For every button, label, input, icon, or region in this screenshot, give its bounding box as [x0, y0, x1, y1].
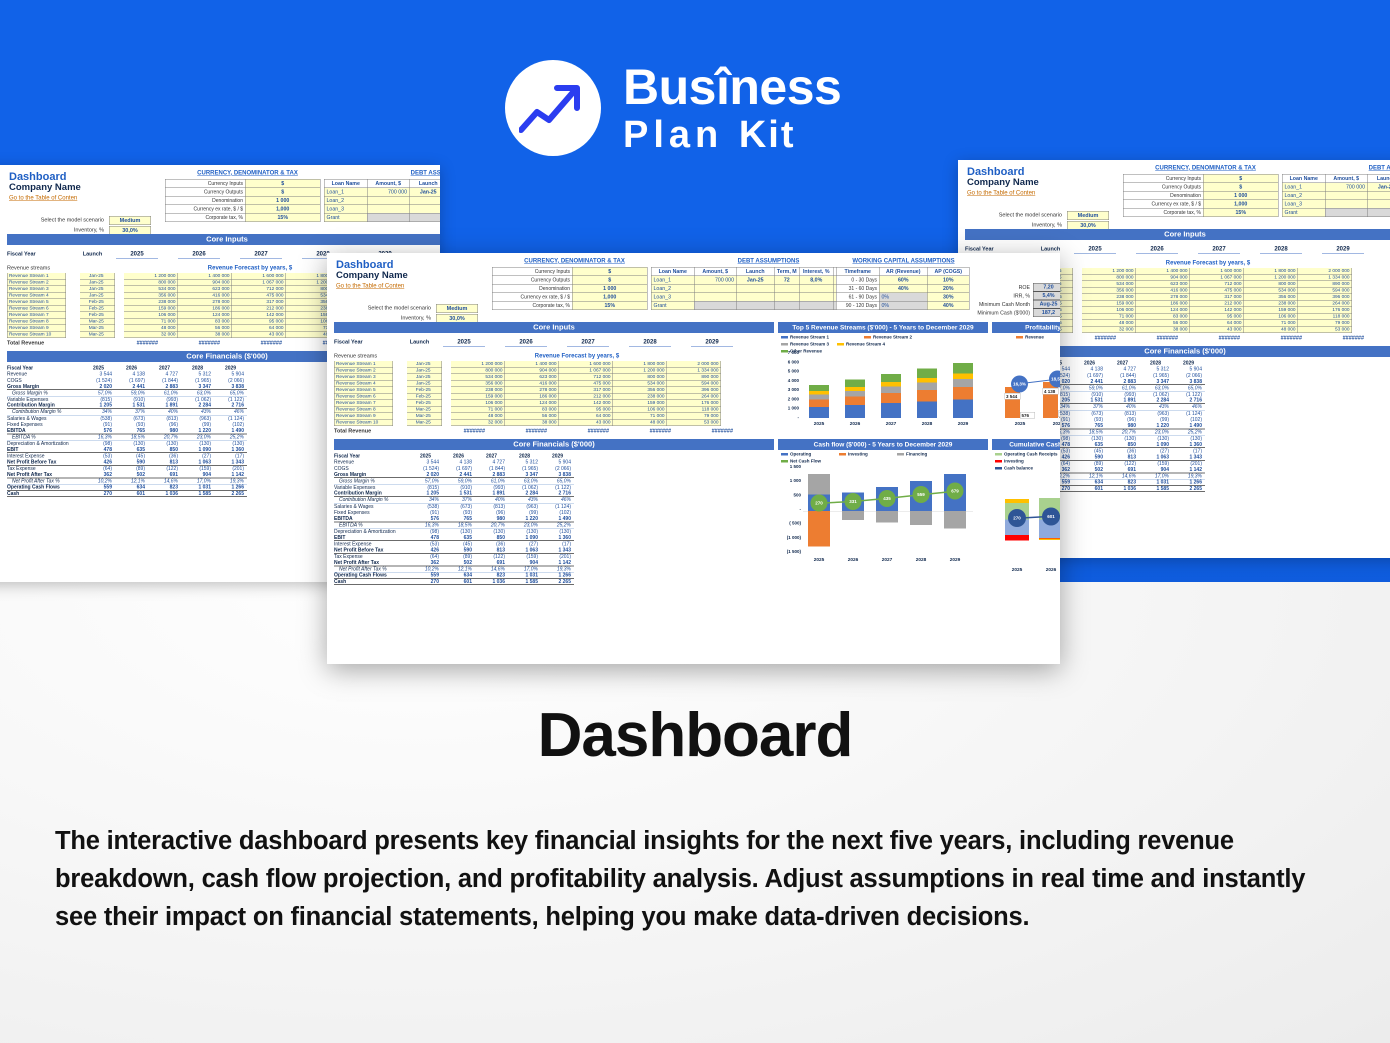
currency-row-value[interactable]: $: [572, 267, 647, 276]
revenue-forecast-caption: Revenue Forecast by years, $: [1073, 259, 1343, 267]
wc-header-cell: Timeframe: [836, 267, 879, 276]
table-row: Currency ex rate, $ / $1,000: [1123, 200, 1278, 209]
financial-row-value: 502: [115, 472, 148, 478]
total-revenue-cell: #######: [1198, 335, 1240, 342]
table-row: Loan_1700 000Jan-25728,0%Annuity: [324, 188, 440, 197]
table-row: Currency Outputs$: [1123, 183, 1278, 192]
bar-segment: [881, 403, 901, 418]
financial-row-value: 1 490: [541, 516, 574, 522]
financial-row-value: (673): [115, 416, 148, 422]
total-revenue-cell: #######: [1074, 335, 1116, 342]
debt-cell[interactable]: [1367, 191, 1390, 200]
financial-row-value: 1 490: [1172, 423, 1205, 429]
year-underline: [116, 258, 158, 259]
cash-flow-title: Cash flow ($'000) - 5 Years to December …: [778, 439, 988, 450]
financial-row-value: 502: [442, 560, 475, 566]
table-row: Revenue3 5444 1384 7275 3125 904: [7, 371, 247, 377]
total-revenue-cell: #######: [1136, 335, 1178, 342]
table-row: EBIT4786358501 0901 360: [334, 535, 574, 541]
financial-row-value: 59,0%: [115, 390, 148, 396]
scenario-select[interactable]: Medium: [436, 304, 478, 313]
revenue-stream-name[interactable]: Revenue Stream 10: [334, 420, 393, 427]
currency-caption: CURRENCY, DENOMINATOR & TAX: [165, 169, 330, 177]
debt-cell[interactable]: [774, 284, 799, 293]
kpi-row: Minimum Cash MonthAug-25: [977, 300, 1060, 309]
debt-cell[interactable]: Loan_2: [324, 196, 367, 205]
financial-row-value: 813: [148, 459, 181, 465]
debt-cell[interactable]: Jan-25: [1367, 183, 1390, 192]
table-row: Currency Inputs$: [492, 267, 647, 276]
debt-cell[interactable]: [799, 293, 833, 302]
currency-row-value[interactable]: $: [1203, 183, 1278, 192]
debt-cell[interactable]: Jan-25: [736, 276, 774, 285]
currency-row-label: Currency ex rate, $ / $: [165, 205, 245, 214]
financial-row-value: 1 220: [1139, 423, 1172, 429]
financial-row-value: 635: [442, 535, 475, 541]
year-header: 2026: [1136, 245, 1178, 253]
financial-row-value: 478: [409, 535, 442, 541]
financial-row-value: 5 904: [1172, 367, 1205, 373]
screenshot-main-dashboard[interactable]: DashboardCompany NameGo to the Table of …: [327, 253, 1060, 664]
financial-row-value: 904: [181, 472, 214, 478]
revenue-stream-launch[interactable]: Mar-25: [407, 420, 442, 427]
currency-row-value[interactable]: 1 000: [1203, 191, 1278, 200]
brand-logo: Busîness Plan Kit: [505, 55, 885, 160]
x-axis-label: 2028: [909, 421, 945, 427]
currency-row-value[interactable]: 15%: [245, 213, 320, 222]
debt-cell[interactable]: [694, 284, 736, 293]
financial-row-value: 691: [475, 560, 508, 566]
debt-cell[interactable]: Loan_1: [324, 188, 367, 197]
scenario-label: Select the model scenario: [336, 305, 431, 312]
x-axis-label: 2025: [801, 421, 837, 427]
year-header: 2029: [1322, 245, 1364, 253]
financial-row-value: 426: [409, 547, 442, 553]
financial-row-value: 16,3%: [82, 434, 115, 440]
table-row: Contribution Margin1 2051 5311 8912 2842…: [334, 491, 574, 497]
currency-caption: CURRENCY, DENOMINATOR & TAX: [1123, 164, 1288, 172]
financial-row-value: 1 266: [1172, 480, 1205, 486]
financial-row-value: 576: [409, 516, 442, 522]
chart-legend: RevenueEBITDAEBITDA %: [992, 333, 1060, 341]
kpi-value: 187,2: [1033, 309, 1060, 318]
financial-row-value: (93): [442, 510, 475, 516]
financial-row-value: 1 063: [508, 547, 541, 553]
financial-row-value: 1 343: [1172, 454, 1205, 460]
wc-cell[interactable]: 40%: [879, 284, 927, 293]
financial-row-value: (89): [1073, 461, 1106, 467]
financial-row-value: 3 347: [181, 384, 214, 390]
bar-segment: [845, 405, 865, 418]
total-revenue-cell: #######: [1322, 335, 1364, 342]
legend-label: Revenue Stream 3: [790, 342, 829, 347]
financial-row-label: COGS: [334, 466, 409, 472]
financial-row-value: 61,0%: [475, 478, 508, 484]
financial-row-label: Net Profit After Tax: [7, 472, 82, 478]
financial-row-label: Fixed Expenses: [7, 422, 82, 428]
wc-cell[interactable]: 90 - 120 Days: [836, 301, 879, 310]
scenario-select[interactable]: Medium: [1067, 211, 1109, 220]
financial-row-value: 502: [1073, 467, 1106, 473]
financial-row-value: 270: [409, 579, 442, 585]
financial-row-value: (963): [508, 504, 541, 510]
financial-row-value: 43%: [1139, 404, 1172, 410]
wc-cell[interactable]: 60%: [879, 276, 927, 285]
fiscal-year-label: Fiscal Year: [334, 339, 394, 346]
financial-row-value: 63,0%: [508, 478, 541, 484]
debt-cell[interactable]: [409, 213, 440, 222]
table-row: Loan_1700 000Jan-25728,0%Annuity: [1282, 183, 1390, 192]
financial-row-value: (130): [148, 441, 181, 447]
debt-cell[interactable]: [694, 301, 736, 310]
debt-header-cell: Amount, $: [694, 267, 736, 276]
financial-row-label: Contribution Margin %: [7, 409, 82, 415]
bar-segment: [809, 391, 829, 394]
financial-row-value: 1 205: [82, 403, 115, 409]
scenario-select[interactable]: Medium: [109, 216, 151, 225]
financial-row-value: 59,0%: [442, 478, 475, 484]
financial-row-label: Gross Margin %: [7, 390, 82, 396]
financial-row-value: 980: [475, 516, 508, 522]
fiscal-year-label: Fiscal Year: [7, 365, 82, 371]
total-revenue-cell: #######: [505, 428, 547, 435]
financial-row-label: Cash: [334, 579, 409, 585]
year-header: 2028: [181, 365, 214, 371]
legend-swatch: [1016, 336, 1023, 339]
currency-row-value[interactable]: $: [245, 179, 320, 188]
financial-row-value: (91): [82, 422, 115, 428]
financial-row-value: 10,2%: [409, 566, 442, 572]
debt-cell[interactable]: [736, 301, 774, 310]
debt-cell[interactable]: [799, 301, 833, 310]
currency-row-value[interactable]: 15%: [1203, 208, 1278, 217]
financial-row-value: (36): [475, 542, 508, 548]
financial-row-value: 40%: [475, 497, 508, 503]
toc-link[interactable]: Go to the Table of Conten: [967, 189, 1035, 196]
year-underline: [567, 346, 609, 347]
financial-row-value: 2 883: [148, 384, 181, 390]
debt-cell[interactable]: [367, 205, 409, 214]
debt-cell[interactable]: 700 000: [367, 188, 409, 197]
debt-cell[interactable]: [409, 196, 440, 205]
currency-row-value[interactable]: 15%: [572, 301, 647, 310]
year-header: 2029: [541, 453, 574, 459]
financial-row-value: 23,0%: [181, 434, 214, 440]
revenue-stream-value[interactable]: 43 000: [232, 332, 286, 339]
financial-row-value: (813): [475, 504, 508, 510]
bar-segment: [881, 374, 901, 382]
toc-link[interactable]: Go to the Table of Conten: [9, 194, 77, 201]
debt-cell[interactable]: [367, 213, 409, 222]
financial-row-label: Operating Cash Flows: [334, 573, 409, 579]
currency-row-label: Currency Outputs: [1123, 183, 1203, 192]
debt-cell[interactable]: [774, 293, 799, 302]
financial-row-value: (36): [148, 454, 181, 460]
y-axis-tick: 2 000: [779, 396, 799, 402]
financial-row-value: 25,2%: [541, 522, 574, 528]
financial-row-value: (910): [115, 397, 148, 403]
revenue-stream-value[interactable]: 32 000: [1082, 327, 1136, 334]
legend-swatch: [864, 336, 871, 339]
core-inputs-bar: Core Inputs: [334, 322, 774, 333]
financial-row-value: 4 727: [148, 372, 181, 378]
wc-cell[interactable]: 20%: [927, 284, 969, 293]
x-axis-label: 2029: [945, 421, 981, 427]
financial-row-value: (17): [541, 542, 574, 548]
financial-row-value: 46%: [541, 497, 574, 503]
revenue-stream-value[interactable]: 38 000: [178, 332, 232, 339]
bar-segment: [845, 387, 865, 391]
table-row: Revenue3 5444 1384 7275 3125 904: [334, 459, 574, 465]
debt-cell[interactable]: 700 000: [1325, 183, 1367, 192]
table-row: Revenue Stream 10Mar-2532 00038 00043 00…: [334, 420, 721, 427]
debt-cell[interactable]: [1367, 200, 1390, 209]
total-revenue-label: Total Revenue: [334, 428, 409, 435]
y-axis-tick: 3 000: [779, 387, 799, 393]
financial-row-value: 1 343: [541, 547, 574, 553]
debt-cell[interactable]: [736, 293, 774, 302]
financial-row-value: (102): [1172, 417, 1205, 423]
financial-row-value: (89): [442, 554, 475, 560]
currency-caption: CURRENCY, DENOMINATOR & TAX: [492, 257, 657, 265]
revenue-stream-value[interactable]: 53 000: [1298, 327, 1352, 334]
bar-segment: [953, 399, 973, 418]
financial-row-value: (45): [115, 454, 148, 460]
debt-cell[interactable]: Loan_3: [324, 205, 367, 214]
financial-row-value: (910): [442, 485, 475, 491]
debt-cell[interactable]: Loan_1: [651, 276, 694, 285]
financial-row-value: 2 716: [541, 491, 574, 497]
cumulative-cashflow-title: Cumulative CashFlow ($'000) - 5 Years to…: [992, 439, 1060, 450]
financial-row-value: 1 063: [181, 459, 214, 465]
debt-cell[interactable]: [799, 284, 833, 293]
financial-row-value: 904: [1139, 467, 1172, 473]
financial-row-value: 813: [475, 547, 508, 553]
wc-table: TimeframeAR (Revenue)AP (COGS)0 - 30 Day…: [836, 267, 970, 310]
financial-row-value: (130): [181, 441, 214, 447]
financial-row-value: (130): [1106, 436, 1139, 442]
brand-line-1: Busîness: [623, 62, 841, 112]
table-header-row: Loan NameAmount, $LaunchTerm, MInterest,…: [1282, 174, 1390, 183]
wc-cell[interactable]: 61 - 90 Days: [836, 293, 879, 302]
legend-label: Revenue Stream 1: [790, 335, 829, 340]
financial-row-value: 1 585: [1139, 486, 1172, 492]
financial-row-label: EBIT: [7, 447, 82, 453]
currency-row-value[interactable]: 1,000: [572, 293, 647, 302]
financial-row-label: Revenue: [334, 460, 409, 466]
ebitda-data-label: 576: [1020, 412, 1035, 419]
financial-row-value: 362: [82, 472, 115, 478]
currency-row-label: Currency Outputs: [492, 276, 572, 285]
financial-row-value: 1 090: [508, 535, 541, 541]
financial-row-value: (130): [1172, 436, 1205, 442]
financial-row-value: (96): [148, 422, 181, 428]
financial-row-value: 823: [148, 485, 181, 491]
debt-cell[interactable]: [774, 301, 799, 310]
financial-row-value: (45): [1073, 449, 1106, 455]
year-header: 2028: [1260, 245, 1302, 253]
debt-cell[interactable]: Loan_2: [1282, 191, 1325, 200]
net-cash-flow-bubble: 435: [879, 490, 896, 507]
net-cash-flow-line: [778, 450, 988, 575]
financial-row-value: 426: [82, 459, 115, 465]
currency-row-label: Currency Outputs: [165, 188, 245, 197]
financial-row-value: 3 838: [1172, 379, 1205, 385]
financial-row-value: 1 090: [1139, 442, 1172, 448]
wc-cell[interactable]: 0%: [879, 293, 927, 302]
revenue-stream-value[interactable]: 38 000: [1136, 327, 1190, 334]
revenue-stream-launch[interactable]: Mar-25: [80, 332, 115, 339]
debt-header-cell: Loan Name: [1282, 174, 1325, 183]
ebitda-percent-bubble: 18,5%: [1049, 371, 1060, 388]
currency-row-value[interactable]: 1 000: [572, 284, 647, 293]
financial-row-value: (2 066): [1172, 373, 1205, 379]
debt-cell[interactable]: Loan_3: [651, 293, 694, 302]
financial-row-label: Gross Margin %: [334, 478, 409, 484]
table-row: Gross Margin %57,0%59,0%61,0%63,0%65,0%: [334, 478, 574, 484]
currency-row-value[interactable]: $: [1203, 174, 1278, 183]
financial-row-label: Fixed Expenses: [334, 510, 409, 516]
currency-row-value[interactable]: 1 000: [245, 196, 320, 205]
financial-row-value: 19,3%: [214, 478, 247, 484]
debt-cell[interactable]: [694, 293, 736, 302]
revenue-data-label: 3 544: [1005, 393, 1021, 400]
financial-row-value: 1 142: [214, 472, 247, 478]
kpi-label: Minimum Cash Month: [977, 301, 1033, 307]
debt-cell[interactable]: [1325, 208, 1367, 217]
launch-label: Launch: [402, 339, 437, 346]
wc-cell[interactable]: 31 - 60 Days: [836, 284, 879, 293]
revenue-stream-value[interactable]: 43 000: [559, 420, 613, 427]
financial-row-value: (96): [1106, 417, 1139, 423]
debt-cell[interactable]: [409, 205, 440, 214]
financial-row-value: 1 360: [541, 535, 574, 541]
financial-row-value: (17): [214, 454, 247, 460]
debt-cell[interactable]: Jan-25: [409, 188, 440, 197]
debt-cell[interactable]: 700 000: [694, 276, 736, 285]
financial-row-value: (538): [82, 416, 115, 422]
fiscal-year-label: Fiscal Year: [965, 246, 1025, 253]
debt-cell[interactable]: [736, 284, 774, 293]
financial-row-value: (130): [541, 529, 574, 535]
toc-link[interactable]: Go to the Table of Conten: [336, 282, 404, 289]
debt-cell[interactable]: Grant: [324, 213, 367, 222]
total-revenue-label: Total Revenue: [7, 340, 82, 347]
debt-cell[interactable]: [1325, 200, 1367, 209]
wc-cell[interactable]: 0%: [879, 301, 927, 310]
debt-cell[interactable]: 72: [774, 276, 799, 285]
financial-row-value: (1 965): [508, 466, 541, 472]
financial-row-label: Salaries & Wages: [7, 416, 82, 422]
debt-cell[interactable]: [1325, 191, 1367, 200]
debt-cell[interactable]: Grant: [651, 301, 694, 310]
revenue-stream-value[interactable]: 48 000: [613, 420, 667, 427]
financial-row-value: 1 490: [214, 428, 247, 434]
revenue-stream-value[interactable]: 53 000: [667, 420, 721, 427]
financial-row-value: 37%: [442, 497, 475, 503]
revenue-stream-value[interactable]: 32 000: [451, 420, 505, 427]
total-revenue-cell: #######: [567, 428, 609, 435]
debt-cell[interactable]: [1367, 208, 1390, 217]
year-header: 2026: [115, 365, 148, 371]
debt-cell[interactable]: 8,0%: [799, 276, 833, 285]
financial-row-value: 23,0%: [1139, 429, 1172, 435]
financial-row-value: 5 904: [541, 460, 574, 466]
financial-row-value: 362: [409, 560, 442, 566]
financial-row-value: (64): [409, 554, 442, 560]
financial-row-value: (17): [1172, 449, 1205, 455]
revenue-stream-value[interactable]: 43 000: [1190, 327, 1244, 334]
table-row: Cash2706011 0361 5852 265: [7, 491, 247, 497]
year-header: 2027: [240, 250, 282, 258]
wc-cell[interactable]: 40%: [927, 301, 969, 310]
revenue-stream-value[interactable]: 48 000: [1244, 327, 1298, 334]
table-row: 31 - 60 Days40%20%: [836, 284, 969, 293]
financial-row-label: Net Profit After Tax: [334, 560, 409, 566]
revenue-streams-label: Revenue streams: [7, 265, 82, 272]
financial-row-value: 23,0%: [508, 522, 541, 528]
debt-cell[interactable]: Grant: [1282, 208, 1325, 217]
financial-row-value: 691: [148, 472, 181, 478]
inventory-label: Inventory, %: [336, 315, 431, 322]
financial-row-value: 1 266: [541, 573, 574, 579]
launch-label: Launch: [75, 251, 110, 258]
kpi-label: IRR, %: [977, 293, 1033, 299]
financial-row-value: (130): [1073, 436, 1106, 442]
wc-cell[interactable]: 30%: [927, 293, 969, 302]
revenue-stream-name[interactable]: Revenue Stream 10: [7, 332, 66, 339]
financial-row-value: (159): [508, 554, 541, 560]
total-revenue-cell: #######: [443, 428, 485, 435]
wc-cell[interactable]: 0 - 30 Days: [836, 276, 879, 285]
debt-cell[interactable]: Loan_3: [1282, 200, 1325, 209]
revenue-stream-value[interactable]: 38 000: [505, 420, 559, 427]
debt-cell[interactable]: [367, 196, 409, 205]
revenue-stream-value[interactable]: 32 000: [124, 332, 178, 339]
currency-row-value[interactable]: $: [245, 188, 320, 197]
financial-row-value: (201): [214, 466, 247, 472]
financial-row-value: 813: [1106, 454, 1139, 460]
financial-row-label: Variable Expenses: [334, 485, 409, 491]
year-header: 2025: [443, 338, 485, 346]
debt-cell[interactable]: Loan_1: [1282, 183, 1325, 192]
financial-row-value: 1 531: [115, 403, 148, 409]
wc-cell[interactable]: 10%: [927, 276, 969, 285]
financial-row-value: 4 138: [1073, 367, 1106, 373]
financial-row-value: 37%: [1073, 404, 1106, 410]
financial-row-value: (1 124): [541, 504, 574, 510]
year-header: 2027: [1106, 360, 1139, 366]
financial-row-value: 1 031: [508, 573, 541, 579]
currency-row-value[interactable]: 1,000: [1203, 200, 1278, 209]
legend-swatch: [837, 343, 844, 346]
debt-header-cell: Launch: [409, 179, 440, 188]
currency-row-value[interactable]: $: [572, 276, 647, 285]
financial-row-value: (122): [148, 466, 181, 472]
chart-cumulative-cashflow: Operating Cash ReceiptsOperating Cash Pa…: [992, 450, 1060, 575]
financial-row-value: 635: [115, 447, 148, 453]
financial-row-value: (1 062): [508, 485, 541, 491]
table-row: Denomination1 000: [1123, 191, 1278, 200]
financial-row-value: 4 727: [1106, 367, 1139, 373]
currency-row-value[interactable]: 1,000: [245, 205, 320, 214]
financial-row-value: (993): [475, 485, 508, 491]
debt-cell[interactable]: Loan_2: [651, 284, 694, 293]
legend-item: Revenue Stream 2: [864, 335, 939, 340]
financial-row-value: 43%: [181, 409, 214, 415]
financial-row-value: (91): [409, 510, 442, 516]
financial-row-label: Contribution Margin: [334, 491, 409, 497]
